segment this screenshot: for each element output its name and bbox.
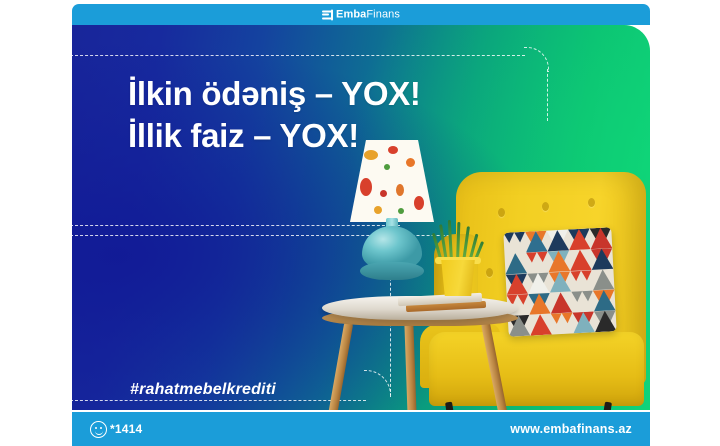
advertisement-banner: EmbaFinans İlkin ödəniş – YOX! İllik fai… (0, 0, 720, 446)
brand-header-bar: EmbaFinans (72, 4, 650, 25)
pillow-cell (593, 290, 616, 312)
shade-motif (398, 208, 404, 214)
pillow-cell (568, 228, 591, 250)
armchair-tuft (542, 202, 549, 211)
campaign-hashtag: #rahatmebelkrediti (130, 381, 276, 399)
shade-motif (380, 190, 387, 197)
dashed-guide-corner-top-right (524, 47, 549, 72)
pillow-cell (590, 227, 613, 249)
creative-panel: İlkin ödəniş – YOX! İllik faiz – YOX! #r… (72, 25, 650, 410)
pillow-cell (528, 293, 551, 315)
armchair-tuft (588, 198, 595, 207)
shade-motif (406, 158, 415, 167)
smiley-call-center-icon (90, 421, 107, 438)
pillow-cell (548, 250, 571, 272)
brand-name: EmbaFinans (336, 9, 400, 20)
shade-motif (360, 178, 372, 196)
brand-name-bold: Emba (336, 8, 366, 20)
call-center-number: *1414 (110, 422, 142, 436)
pillow-cell (569, 249, 592, 271)
decorative-pillow (503, 227, 616, 337)
pillow-cell (504, 253, 527, 275)
pillow-cell (527, 272, 550, 294)
brand-logo[interactable]: EmbaFinans (322, 9, 400, 20)
plant-blade (448, 220, 453, 262)
pillow-cell (526, 251, 549, 273)
pillow-cell (503, 232, 526, 254)
embafinans-logo-icon (322, 9, 333, 20)
table-leg (404, 322, 416, 410)
pillow-cell (591, 248, 614, 270)
footer-contact-bar: *1414 www.embafinans.az (72, 412, 650, 446)
dashed-guide-top (72, 55, 525, 56)
headline-line-2: İllik faiz – YOX! (128, 115, 598, 157)
lamp-base (360, 262, 424, 280)
pillow-triangle-pattern (503, 227, 616, 337)
pillow-cell (549, 271, 572, 293)
shade-motif (384, 164, 390, 170)
headline: İlkin ödəniş – YOX! İllik faiz – YOX! (128, 73, 598, 157)
pillow-cell (529, 314, 552, 336)
shade-motif (374, 206, 382, 214)
pillow-cell (592, 269, 615, 291)
pillow-cell (525, 231, 548, 253)
pillow-cell (550, 292, 573, 314)
armchair-tuft (498, 208, 505, 217)
brand-name-light: Finans (366, 8, 400, 20)
armchair-seat (429, 332, 644, 406)
shade-motif (414, 196, 424, 210)
headline-line-1: İlkin ödəniş – YOX! (128, 73, 598, 115)
pillow-cell (546, 230, 569, 252)
pillow-cell (594, 310, 617, 332)
pillow-cell (570, 270, 593, 292)
shade-motif (396, 184, 404, 196)
pillow-cell (551, 313, 574, 335)
furniture-scene-photo (320, 120, 650, 410)
call-center-link[interactable]: *1414 (90, 421, 142, 438)
armchair-tuft (486, 268, 493, 277)
plant-foliage (438, 220, 478, 262)
website-link[interactable]: www.embafinans.az (510, 422, 632, 436)
table-leg (328, 322, 354, 410)
pillow-cell (572, 311, 595, 333)
pillow-cell (571, 291, 594, 313)
pillow-cell (506, 273, 529, 295)
